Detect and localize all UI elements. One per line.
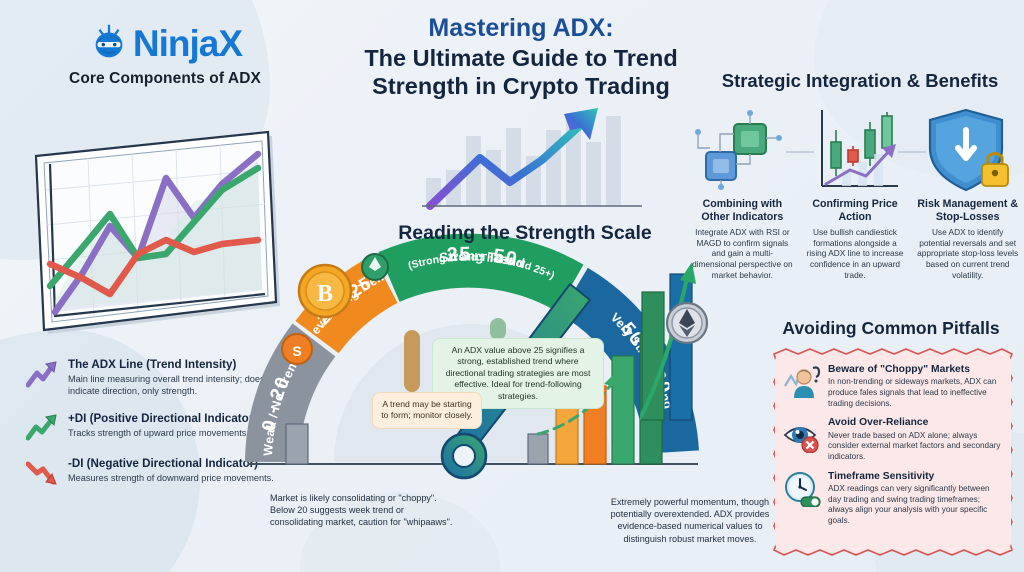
shield-lock-icon xyxy=(930,110,1008,190)
pitfall-heading: Beware of "Choppy" Markets xyxy=(828,364,1003,376)
hero-growth-chart xyxy=(418,100,650,215)
eye-warning-icon xyxy=(783,417,821,453)
strategic-columns: Combining with Other Indicators Integrat… xyxy=(688,198,1022,281)
ninja-helmet-icon xyxy=(88,22,130,64)
tooltip-stem-developing xyxy=(404,330,420,392)
bitcoin-coin-icon: B xyxy=(296,262,354,320)
infographic-canvas: NinjaX Core Components of ADX Mastering … xyxy=(0,0,1024,572)
pitfall-body: In non-trending or sideways markets, ADX… xyxy=(828,377,1003,409)
strategic-column-body: Use bullish candiestick formations along… xyxy=(804,227,907,281)
pitfall-body: Never trade based on ADX alone; always c… xyxy=(828,431,1003,463)
svg-text:S: S xyxy=(292,343,301,359)
confused-trader-icon xyxy=(783,364,821,400)
strategic-column-body: Use ADX to identify potential reversals … xyxy=(916,227,1019,281)
altcoin-coin-icon: S xyxy=(280,332,314,366)
title-line-2: The Ultimate Guide to Trend xyxy=(330,44,712,72)
clock-toggle-icon xyxy=(783,471,821,507)
pitfalls-card: Beware of "Choppy" Markets In non-trendi… xyxy=(768,348,1018,556)
pitfall-heading: Timeframe Sensitivity xyxy=(828,471,1003,483)
pitfall-body: ADX readings can very significantly betw… xyxy=(828,484,1003,527)
brand-name: NinjaX xyxy=(133,25,242,62)
legend-desc: Tracks strength of upward price movement… xyxy=(68,428,257,440)
title-line-3: Strength in Crypto Trading xyxy=(330,72,712,100)
strategic-column-heading: Confirming Price Action xyxy=(804,198,907,224)
strategic-column-price-action: Confirming Price Action Use bullish cand… xyxy=(801,198,910,281)
pitfall-item-over-reliance: Avoid Over-Reliance Never trade based on… xyxy=(783,417,1003,462)
green-up-arrow-icon xyxy=(26,413,60,443)
decor-bars-left xyxy=(286,424,308,464)
gauge-caption-left: Market is likely consolidating or "chopp… xyxy=(270,492,455,529)
legend-title: +DI (Positive Directional Indicator) xyxy=(68,412,257,426)
purple-up-arrow-icon xyxy=(26,359,60,389)
strategic-column-heading: Combining with Other Indicators xyxy=(691,198,794,224)
gauge-heading: Reading the Strength Scale xyxy=(330,222,720,245)
pitfalls-heading: Avoiding Common Pitfalls xyxy=(760,318,1022,339)
circuit-chips-icon xyxy=(695,110,782,190)
title-line-1: Mastering ADX: xyxy=(330,14,712,44)
strategic-heading: Strategic Integration & Benefits xyxy=(700,70,1020,92)
ethereum-silver-coin-icon xyxy=(664,300,710,346)
strategic-icons xyxy=(690,104,1020,192)
svg-text:B: B xyxy=(317,281,333,307)
pitfall-item-choppy: Beware of "Choppy" Markets In non-trendi… xyxy=(783,364,1003,409)
strategic-column-risk: Risk Management & Stop-Losses Use ADX to… xyxy=(913,198,1022,281)
brand-logo: NinjaX Core Components of ADX xyxy=(34,22,296,88)
red-down-arrow-icon xyxy=(26,458,60,488)
ethereum-coin-icon xyxy=(360,252,390,282)
brand-tagline: Core Components of ADX xyxy=(34,70,296,88)
pitfalls-list: Beware of "Choppy" Markets In non-trendi… xyxy=(775,355,1011,549)
candlestick-chart-icon xyxy=(822,110,898,186)
tooltip-stem-strong xyxy=(490,318,506,340)
pitfall-heading: Avoid Over-Reliance xyxy=(828,417,1003,429)
tooltip-developing-trend: A trend may be starting to form; monitor… xyxy=(372,392,482,429)
page-title: Mastering ADX: The Ultimate Guide to Tre… xyxy=(330,14,712,100)
gauge-caption-right: Extremely powerful momentum, though pote… xyxy=(600,496,780,545)
strategic-column-heading: Risk Management & Stop-Losses xyxy=(916,198,1019,224)
pitfall-item-timeframe: Timeframe Sensitivity ADX readings can v… xyxy=(783,471,1003,527)
